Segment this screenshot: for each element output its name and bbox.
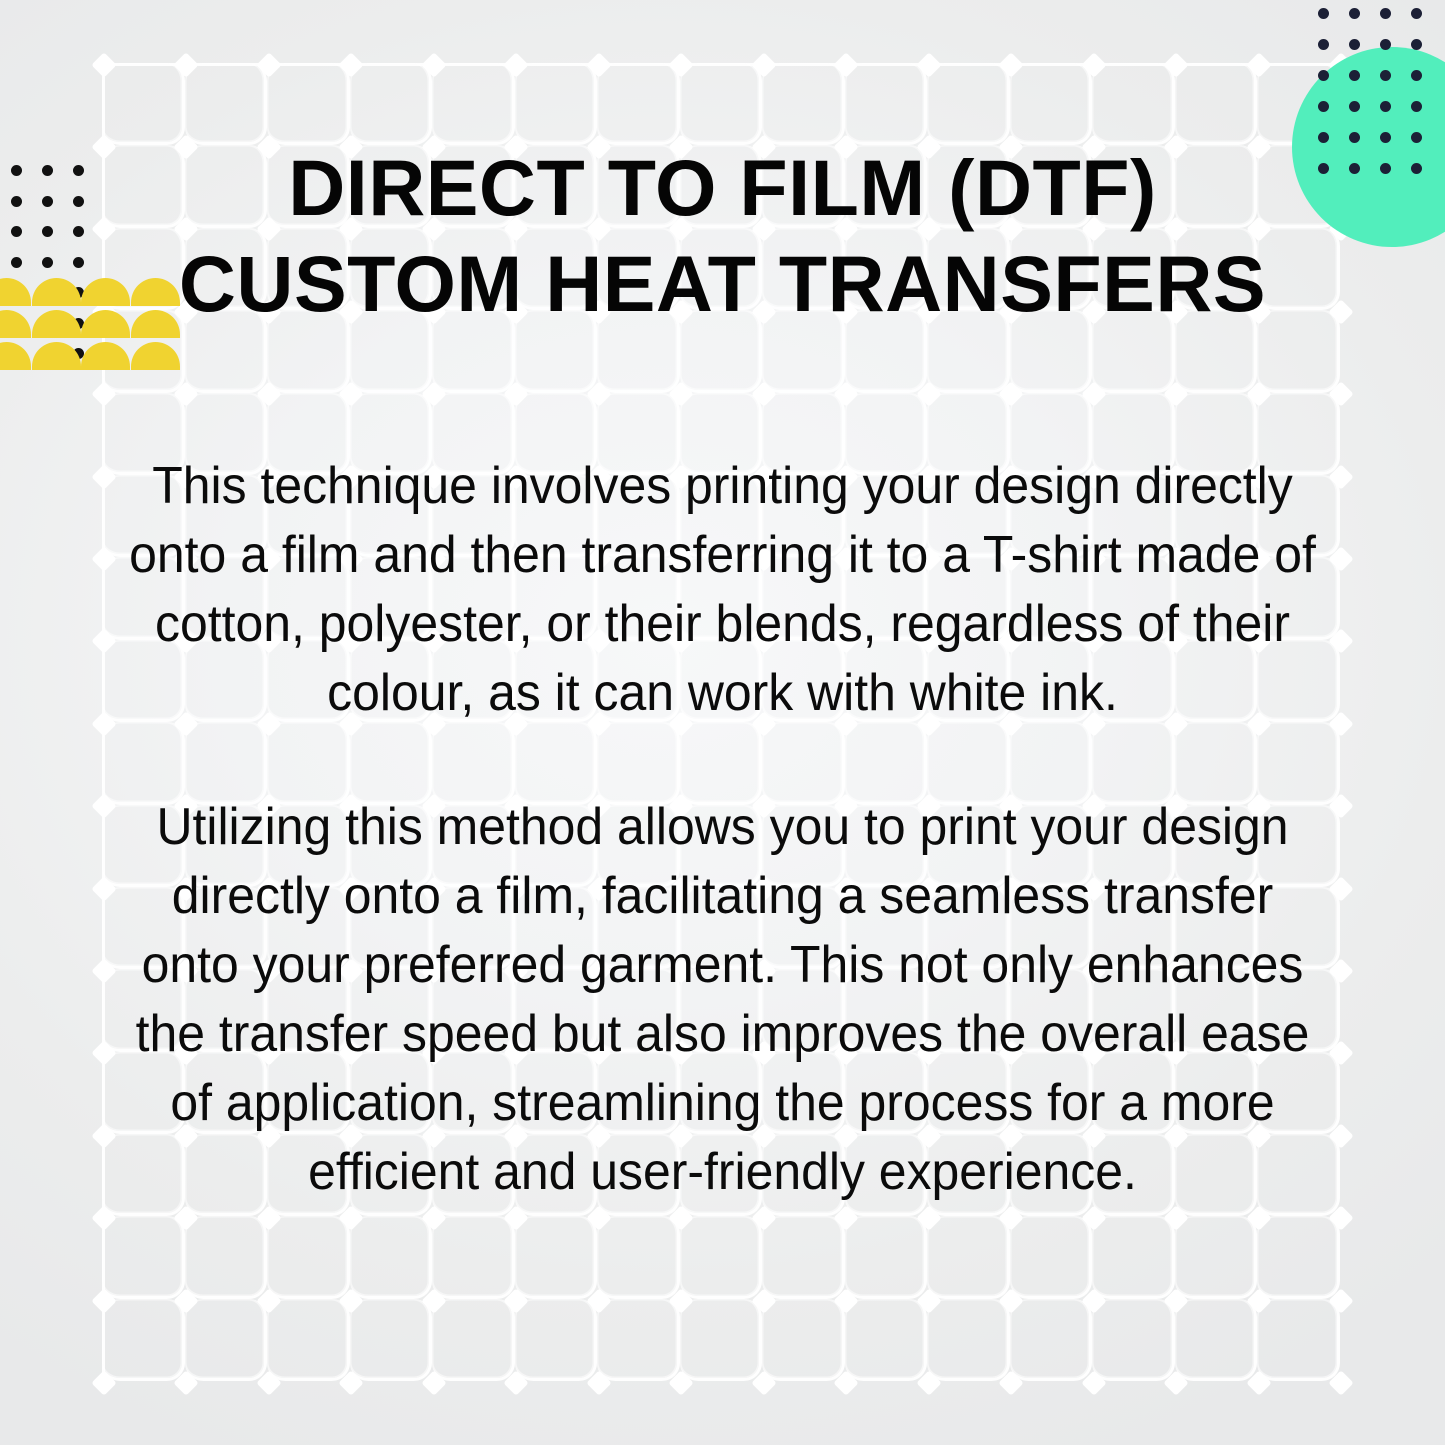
page-title: DIRECT TO FILM (DTF) CUSTOM HEAT TRANSFE… [120, 140, 1325, 332]
poster-canvas: DIRECT TO FILM (DTF) CUSTOM HEAT TRANSFE… [0, 0, 1445, 1445]
page-title-line-1: DIRECT TO FILM (DTF) [120, 140, 1325, 236]
body-paragraph-1: This technique involves printing your de… [120, 452, 1325, 728]
poster-content: DIRECT TO FILM (DTF) CUSTOM HEAT TRANSFE… [0, 0, 1445, 1445]
body-paragraph-2: Utilizing this method allows you to prin… [120, 793, 1325, 1207]
page-title-line-2: CUSTOM HEAT TRANSFERS [120, 236, 1325, 332]
